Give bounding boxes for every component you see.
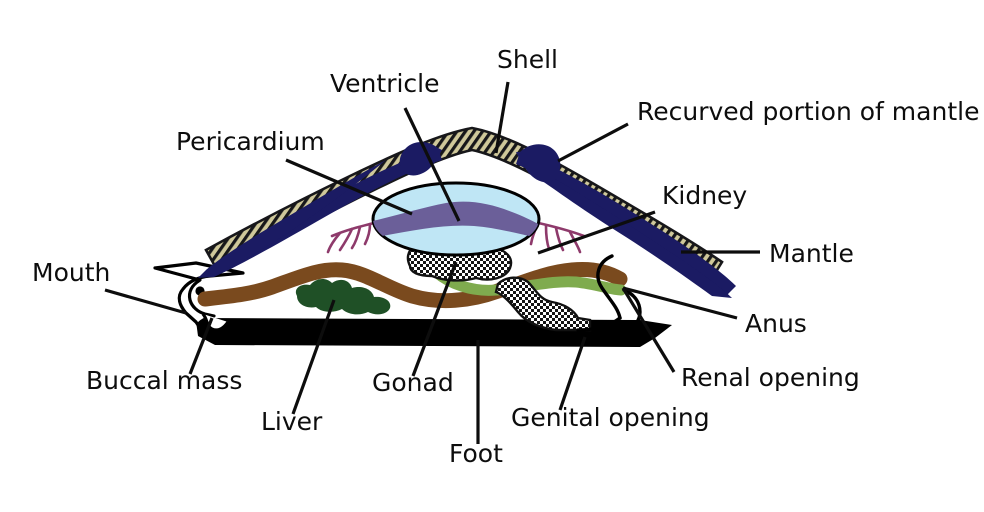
label-gonad: Gonad xyxy=(372,368,454,397)
label-anus: Anus xyxy=(745,309,807,338)
label-renal-opening: Renal opening xyxy=(681,363,860,392)
label-foot: Foot xyxy=(449,439,503,468)
label-buccal-mass: Buccal mass xyxy=(86,366,242,395)
label-liver: Liver xyxy=(261,407,323,436)
label-shell: Shell xyxy=(497,45,558,74)
diagram-canvas: Ventricle Shell Recurved portion of mant… xyxy=(0,0,984,512)
label-kidney: Kidney xyxy=(662,181,747,210)
label-genital-opening: Genital opening xyxy=(511,403,710,432)
label-mouth: Mouth xyxy=(32,258,110,287)
leader-recurved-mantle xyxy=(558,124,628,161)
label-ventricle: Ventricle xyxy=(330,69,440,98)
leader-mouth xyxy=(105,290,186,313)
label-mantle: Mantle xyxy=(769,239,854,268)
leader-liver xyxy=(293,300,334,414)
leader-genital-opening xyxy=(560,337,585,410)
mollusc-anatomy-diagram: Ventricle Shell Recurved portion of mant… xyxy=(0,0,984,512)
recurved-mantle-right xyxy=(516,144,560,182)
label-recurved-mantle: Recurved portion of mantle xyxy=(637,97,979,126)
label-pericardium: Pericardium xyxy=(176,127,325,156)
